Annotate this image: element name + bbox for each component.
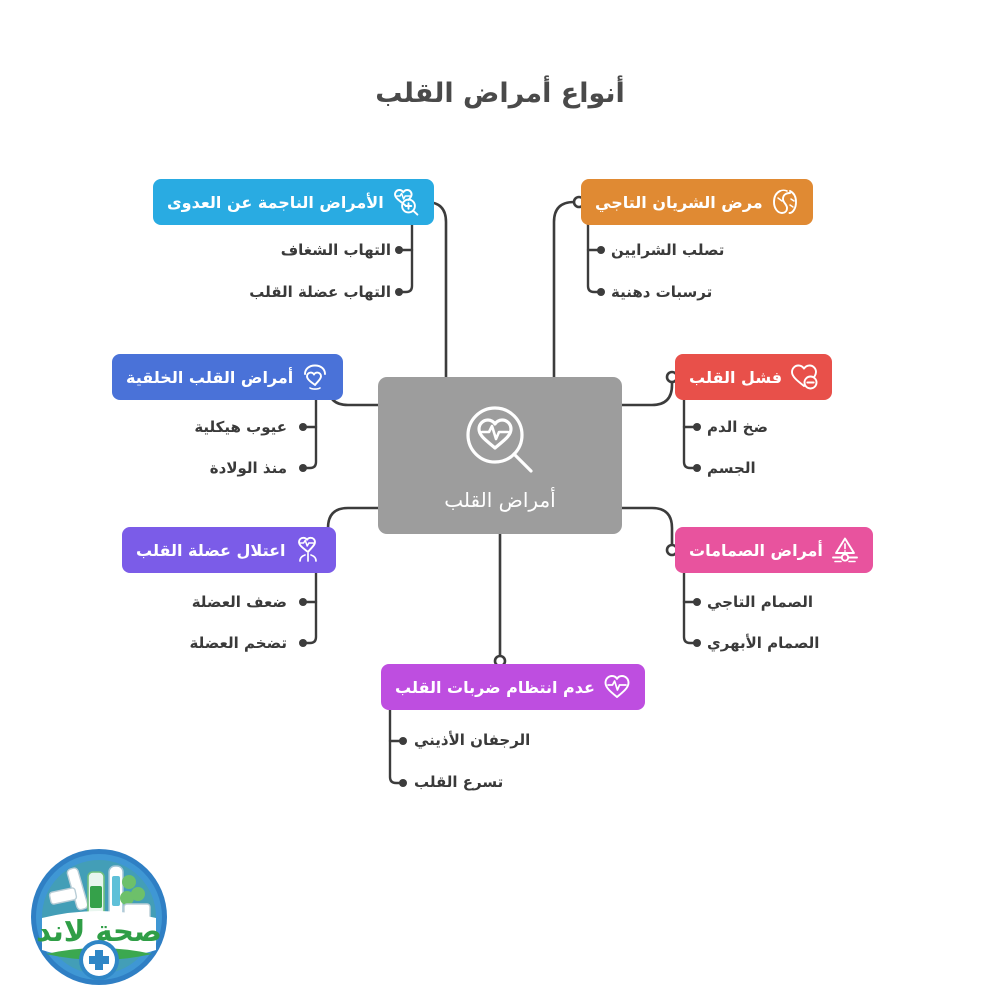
sub-item-heart-failure-0: ضخ الدم bbox=[707, 420, 768, 435]
sub-item-heart-failure-1: الجسم bbox=[707, 461, 756, 476]
branch-node-infection[interactable]: الأمراض الناجمة عن العدوى bbox=[153, 179, 434, 225]
artery-icon bbox=[771, 188, 799, 216]
page-title: أنواع أمراض القلب bbox=[0, 78, 1000, 109]
sub-item-infection-0: التهاب الشغاف bbox=[281, 243, 391, 258]
branch-node-coronary[interactable]: مرض الشريان التاجي bbox=[581, 179, 813, 225]
branch-node-congenital[interactable]: أمراض القلب الخلقية bbox=[112, 354, 343, 400]
sub-item-infection-1: التهاب عضلة القلب bbox=[249, 285, 391, 300]
heart-minus-icon bbox=[790, 363, 818, 391]
branch-label-infection: الأمراض الناجمة عن العدوى bbox=[167, 194, 384, 211]
valve-warning-icon bbox=[831, 536, 859, 564]
center-node[interactable]: أمراض القلب bbox=[378, 377, 622, 534]
branch-node-cardiomyopathy[interactable]: اعتلال عضلة القلب bbox=[122, 527, 336, 573]
heart-search-icon bbox=[392, 188, 420, 216]
sub-item-arrhythmia-1: تسرع القلب bbox=[414, 775, 503, 790]
sub-item-congenital-0: عيوب هيكلية bbox=[194, 420, 287, 435]
sub-item-cardiomyopathy-1: تضخم العضلة bbox=[190, 636, 287, 651]
sub-item-coronary-1: ترسبات دهنية bbox=[611, 285, 712, 300]
branch-label-cardiomyopathy: اعتلال عضلة القلب bbox=[136, 542, 286, 559]
sub-item-arrhythmia-0: الرجفان الأذيني bbox=[414, 733, 530, 748]
heart-pulse-icon bbox=[603, 673, 631, 701]
branch-node-heart-failure[interactable]: فشل القلب bbox=[675, 354, 832, 400]
branch-node-arrhythmia[interactable]: عدم انتظام ضربات القلب bbox=[381, 664, 645, 710]
center-label: أمراض القلب bbox=[378, 488, 622, 512]
branch-label-heart-failure: فشل القلب bbox=[689, 369, 782, 386]
branch-label-arrhythmia: عدم انتظام ضربات القلب bbox=[395, 679, 595, 696]
sehha-land-logo[interactable]: صحة لاند bbox=[28, 846, 170, 988]
branch-label-valve: أمراض الصمامات bbox=[689, 542, 823, 559]
branch-label-congenital: أمراض القلب الخلقية bbox=[126, 369, 293, 386]
branch-label-coronary: مرض الشريان التاجي bbox=[595, 194, 763, 211]
mindmap-canvas: أنواع أمراض القلب أمراض القلب الأمراض ال… bbox=[0, 0, 1000, 1000]
heart-muscle-icon bbox=[294, 536, 322, 564]
sub-item-valve-1: الصمام الأبهري bbox=[707, 636, 819, 651]
branch-node-valve[interactable]: أمراض الصمامات bbox=[675, 527, 873, 573]
heart-magnifier-icon bbox=[457, 399, 543, 489]
sub-item-coronary-0: تصلب الشرايين bbox=[611, 243, 724, 258]
sub-item-congenital-1: منذ الولادة bbox=[210, 461, 287, 476]
baby-heart-icon bbox=[301, 363, 329, 391]
sub-item-valve-0: الصمام التاجي bbox=[707, 595, 813, 610]
sub-item-cardiomyopathy-0: ضعف العضلة bbox=[192, 595, 287, 610]
